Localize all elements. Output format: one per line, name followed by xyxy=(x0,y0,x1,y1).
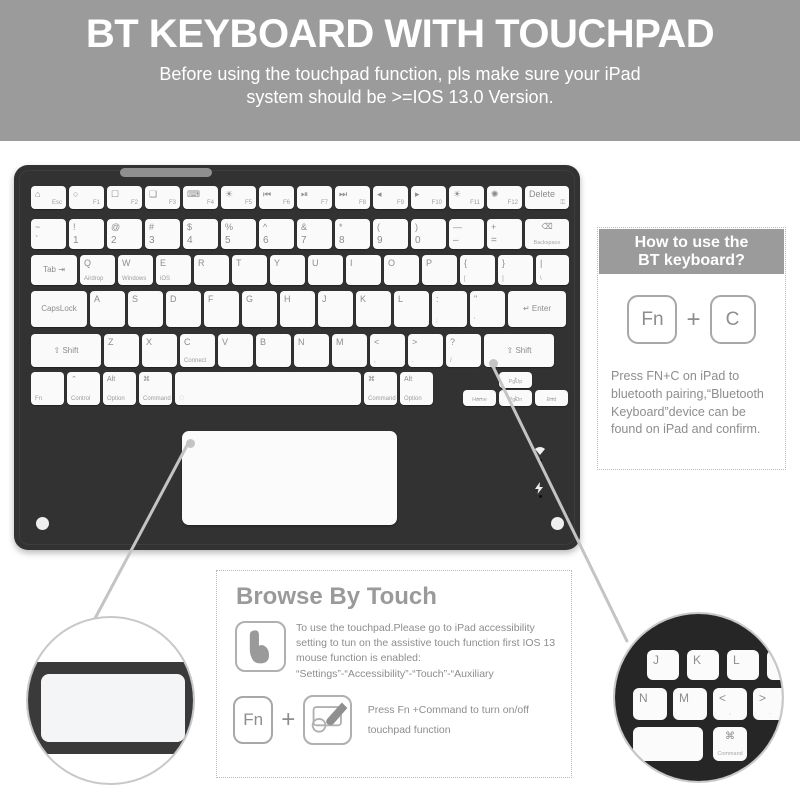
key-glyph: ⌫ xyxy=(525,223,569,231)
key-F[interactable]: F xyxy=(204,291,239,327)
key-X[interactable]: X xyxy=(142,334,177,367)
key-label: H xyxy=(284,295,291,304)
magnified-key-m[interactable]: M xyxy=(673,688,707,720)
key-label: G xyxy=(246,295,253,304)
key-glyph: ⌘ xyxy=(713,732,747,742)
fn-keycap: Fn xyxy=(627,295,677,344)
magnified-key-l[interactable]: L xyxy=(727,650,759,680)
key-label: " xyxy=(474,295,477,304)
key-7[interactable]: &7 xyxy=(297,219,332,249)
key-P[interactable]: P xyxy=(422,255,457,285)
key-base-label: 1 xyxy=(73,236,79,246)
key-base-label: 4 xyxy=(187,236,193,246)
key-label: Option xyxy=(404,396,422,402)
key-label: V xyxy=(222,338,228,347)
key-glyph: ⌨ xyxy=(187,190,200,199)
key-base-label: 0 xyxy=(415,236,421,246)
key-0[interactable]: )0 xyxy=(411,219,446,249)
key-base-label: 2 xyxy=(111,236,117,246)
key-}[interactable]: }] xyxy=(498,255,533,285)
key-fn-label: F3 xyxy=(169,200,176,206)
key-4[interactable]: $4 xyxy=(183,219,218,249)
key-shift-label: & xyxy=(301,223,307,232)
finger-tap-icon xyxy=(235,621,286,672)
key-shift-label: % xyxy=(225,223,233,232)
key-E[interactable]: EiOS xyxy=(156,255,191,285)
key-3[interactable]: #3 xyxy=(145,219,180,249)
key-glyph: ⌘ xyxy=(368,376,375,383)
rubber-foot-right xyxy=(551,517,564,530)
leader-dot-keys xyxy=(489,359,498,368)
key-fn-label: F11 xyxy=(470,200,480,206)
key-Tab[interactable]: Tab ⇥ xyxy=(31,255,77,285)
key-F5[interactable]: ☀F5 xyxy=(221,186,256,209)
key-fn-label: F5 xyxy=(245,200,252,206)
key-label: C xyxy=(184,338,191,347)
key-label: ↵ Enter xyxy=(508,305,566,313)
key-fn-label: F8 xyxy=(359,200,366,206)
key-label: Option xyxy=(107,396,125,402)
key-F4[interactable]: ⌨F4 xyxy=(183,186,218,209)
key-glyph: ☀ xyxy=(225,190,233,199)
key-label: | xyxy=(540,259,542,268)
key-shift-label: * xyxy=(339,223,343,232)
key-5[interactable]: %5 xyxy=(221,219,256,249)
magnified-key-space[interactable] xyxy=(633,727,703,761)
key-fn-label: F9 xyxy=(397,200,404,206)
key-<[interactable]: <, xyxy=(370,334,405,367)
touchpad-hand-icon xyxy=(303,695,351,745)
key-S[interactable]: S xyxy=(128,291,163,327)
key-option[interactable]: AltOption xyxy=(400,372,433,405)
key-label: P xyxy=(426,259,432,268)
key-shift-label: + xyxy=(491,223,496,232)
key-Q[interactable]: QAirdrop xyxy=(80,255,115,285)
key-home[interactable]: ←Home xyxy=(463,390,496,406)
key-control[interactable]: ⌃Control xyxy=(67,372,100,405)
key-F6[interactable]: ⏮F6 xyxy=(259,186,294,209)
key-sub-label: , xyxy=(374,358,376,364)
battery-indicator-icon xyxy=(534,481,543,492)
touchpad[interactable] xyxy=(182,431,397,525)
callout-bt-title-line-1: How to use the xyxy=(635,234,749,252)
key-base-label: 8 xyxy=(339,236,345,246)
key-2[interactable]: @2 xyxy=(107,219,142,249)
number-key-row: ~`!1@2#3$4%5^6&7*8(9)0—–+=Backspace⌫ xyxy=(31,219,569,249)
key-sub-label: \ xyxy=(540,276,542,282)
key-label: J xyxy=(322,295,327,304)
key-Shift[interactable]: ⇧ Shift xyxy=(31,334,101,367)
key-sub-label: ' xyxy=(474,318,475,324)
key-F11[interactable]: ☀F11 xyxy=(449,186,484,209)
key-base-label: 6 xyxy=(263,236,269,246)
key-label: K xyxy=(693,654,701,666)
key-space[interactable]: ◌ xyxy=(175,372,361,405)
key-F9[interactable]: ◂F9 xyxy=(373,186,408,209)
infographic-canvas: BT KEYBOARD WITH TOUCHPAD Before using t… xyxy=(0,0,800,800)
key-glyph: Alt xyxy=(404,376,412,383)
key-L[interactable]: L xyxy=(394,291,429,327)
key-base-label: 7 xyxy=(301,236,307,246)
magnified-key-period[interactable]: >. xyxy=(753,688,784,720)
key-=[interactable]: += xyxy=(487,219,522,249)
key-command[interactable]: ⌘Command xyxy=(139,372,172,405)
callout-bt-title-line-2: BT keyboard? xyxy=(635,252,749,270)
subtitle-line-2: system should be >=IOS 13.0 Version. xyxy=(0,86,800,109)
key-glyph: ▸ xyxy=(415,190,420,199)
key-fn-label: F2 xyxy=(131,200,138,206)
key-label: Tab ⇥ xyxy=(31,266,77,274)
key-label: PgDn xyxy=(499,398,532,404)
key-label: ? xyxy=(450,338,455,347)
key-label: ⇧ Shift xyxy=(484,347,554,355)
key-shift-label: ( xyxy=(377,223,380,232)
key-base-label: 5 xyxy=(225,236,231,246)
key-glyph: ◂ xyxy=(377,190,382,199)
key-N[interactable]: N xyxy=(294,334,329,367)
key-label: U xyxy=(312,259,319,268)
key-label: I xyxy=(350,259,353,268)
key-label: S xyxy=(132,295,138,304)
key-K[interactable]: K xyxy=(356,291,391,327)
key-fn[interactable]: Fn xyxy=(31,372,64,405)
key-glyph: ❑ xyxy=(149,190,157,199)
key-glyph: Delete xyxy=(529,190,555,199)
key-fn-label: ⚿ xyxy=(560,200,565,206)
magnified-touchpad xyxy=(41,674,185,742)
key-⚿[interactable]: Delete⚿ xyxy=(525,186,569,209)
key-label: E xyxy=(160,259,166,268)
key-label: Control xyxy=(71,396,90,402)
callout-touch-shortcut-block: Fn + Press Fn +Command to turn on/off to… xyxy=(233,695,571,745)
key-glyph: ⏯ xyxy=(301,190,308,199)
key-label: Command xyxy=(368,396,396,402)
key-glyph: Alt xyxy=(107,376,115,383)
key-sub-label: / xyxy=(450,358,452,364)
key-B[interactable]: B xyxy=(256,334,291,367)
key-shift-label: ~ xyxy=(35,223,40,232)
key-–[interactable]: —– xyxy=(449,219,484,249)
key-Enter[interactable]: ↵ Enter xyxy=(508,291,566,327)
modifier-key-row: Fn⌃ControlAltOption⌘Command◌⌘CommandAltO… xyxy=(31,372,433,405)
key-H[interactable]: H xyxy=(280,291,315,327)
magnified-key-k[interactable]: K xyxy=(687,650,719,680)
key-label: J xyxy=(653,654,659,666)
function-key-row: ⌂Esc○F1☐F2❑F3⌨F4☀F5⏮F6⏯F7⏭F8◂F9▸F10☀F11✺… xyxy=(31,186,569,209)
page-title: BT KEYBOARD WITH TOUCHPAD xyxy=(0,0,800,55)
key-G[interactable]: G xyxy=(242,291,277,327)
key->[interactable]: >. xyxy=(408,334,443,367)
key-D[interactable]: D xyxy=(166,291,201,327)
key-label: M xyxy=(679,692,689,704)
key-sub-label: . xyxy=(412,358,414,364)
key-label: < xyxy=(719,692,726,704)
key-Z[interactable]: Z xyxy=(104,334,139,367)
key-label: X xyxy=(146,338,152,347)
key-fn-label: Esc xyxy=(52,200,62,206)
key-label: Z xyxy=(108,338,114,347)
key-A[interactable]: A xyxy=(90,291,125,327)
home-key-row: CapsLockASDFGHJKL:;"'↵ Enter xyxy=(31,291,566,327)
key-O[interactable]: O xyxy=(384,255,419,285)
key-F3[interactable]: ❑F3 xyxy=(145,186,180,209)
callout-bt-body: Press FN+C on iPad to bluetooth pairing,… xyxy=(611,368,775,439)
key-glyph: ⌘ xyxy=(143,376,150,383)
key-label: D xyxy=(170,295,177,304)
key-shift-label: # xyxy=(149,223,154,232)
key-1[interactable]: !1 xyxy=(69,219,104,249)
key-label: B xyxy=(260,338,266,347)
subtitle-line-1: Before using the touchpad function, pls … xyxy=(0,63,800,86)
key-base-label: 9 xyxy=(377,236,383,246)
key-label: Home xyxy=(463,398,496,404)
plus-symbol: + xyxy=(686,308,700,332)
key-fn-label: F4 xyxy=(207,200,214,206)
callout-bt-shortcut: Fn + C xyxy=(598,295,785,344)
key-sub-label: Airdrop xyxy=(84,276,103,282)
key-label: Command xyxy=(143,396,171,402)
key-glyph: ☐ xyxy=(111,190,119,199)
key-F2[interactable]: ☐F2 xyxy=(107,186,142,209)
key-label: CapsLock xyxy=(31,305,87,313)
key-glyph: ⏮ xyxy=(263,190,271,199)
key-label: K xyxy=(360,295,366,304)
callout-how-to-use-bt: How to use the BT keyboard? Fn + C Press… xyxy=(597,227,786,470)
key-label: } xyxy=(502,259,505,268)
key-U[interactable]: U xyxy=(308,255,343,285)
leader-dot-touchpad xyxy=(186,439,195,448)
key-CapsLock[interactable]: CapsLock xyxy=(31,291,87,327)
key-label: Q xyxy=(84,259,91,268)
key-W[interactable]: WWindows xyxy=(118,255,153,285)
callout-touch-shortcut-text: Press Fn +Command to turn on/off touchpa… xyxy=(368,700,571,741)
key-shift-label: ) xyxy=(415,223,418,232)
key-fn-label: F10 xyxy=(432,200,442,206)
battery-indicator-dot xyxy=(539,495,542,498)
key-sub-label: ; xyxy=(436,318,438,324)
key-label: Y xyxy=(274,259,280,268)
magnifier-touchpad xyxy=(26,616,195,785)
key-C[interactable]: CConnect xyxy=(180,334,215,367)
key-sub-label: Connect xyxy=(184,358,206,364)
callout-bt-header: How to use the BT keyboard? xyxy=(599,229,784,274)
key-option[interactable]: AltOption xyxy=(103,372,136,405)
qwerty-key-row: Tab ⇥QAirdropWWindowsEiOSRTYUIOP{[}]|\ xyxy=(31,255,569,285)
key-fn-label: F12 xyxy=(508,200,518,206)
key-shift-label: ^ xyxy=(263,223,267,232)
magnifier-keys: JKLNM<,>.⌘Command xyxy=(613,612,784,783)
magnified-key-command[interactable]: ⌘Command xyxy=(713,727,747,761)
key-sub-label: iOS xyxy=(160,276,170,282)
key-:[interactable]: :; xyxy=(432,291,467,327)
key-{[interactable]: {[ xyxy=(460,255,495,285)
key-sub-label: Windows xyxy=(122,276,146,282)
magnified-key-comma[interactable]: <, xyxy=(713,688,747,720)
key-label: R xyxy=(198,259,205,268)
key-V[interactable]: V xyxy=(218,334,253,367)
key-sub-label: [ xyxy=(464,276,466,282)
callout-touch-instruction-text: To use the touchpad.Please go to iPad ac… xyxy=(296,621,561,682)
header-banner: BT KEYBOARD WITH TOUCHPAD Before using t… xyxy=(0,0,800,141)
key-label: < xyxy=(374,338,379,347)
key-label: N xyxy=(298,338,305,347)
magnified-key-extra1[interactable] xyxy=(767,650,784,680)
key-command[interactable]: ⌘Command xyxy=(364,372,397,405)
key-label: L xyxy=(733,654,740,666)
key-J[interactable]: J xyxy=(318,291,353,327)
key-label: Fn xyxy=(35,396,42,402)
plus-symbol-touch: + xyxy=(281,708,295,732)
callout-touch-title: Browse By Touch xyxy=(236,585,437,609)
key-label: T xyxy=(236,259,242,268)
key-Y[interactable]: Y xyxy=(270,255,305,285)
key-shift-label: @ xyxy=(111,223,120,232)
key-glyph: ⌂ xyxy=(35,190,40,199)
key-sub-label: , xyxy=(713,711,747,717)
key-label: F xyxy=(208,295,214,304)
key-glyph: ✺ xyxy=(491,190,499,199)
key-9[interactable]: (9 xyxy=(373,219,408,249)
callout-touch-instruction-block: To use the touchpad.Please go to iPad ac… xyxy=(235,621,561,682)
key-"[interactable]: "' xyxy=(470,291,505,327)
c-keycap: C xyxy=(710,295,756,344)
key-end[interactable]: →End xyxy=(535,390,568,406)
key-glyph: ◌ xyxy=(179,393,184,402)
magnified-key-j[interactable]: J xyxy=(647,650,679,680)
shift-key-row: ⇧ ShiftZXCConnectVBNM<,>.?/⇧ Shift xyxy=(31,334,554,367)
key-base-label: ` xyxy=(35,236,38,246)
fn-keycap-touch: Fn xyxy=(233,696,273,744)
key-label: M xyxy=(336,338,344,347)
key-⌫[interactable]: Backspace⌫ xyxy=(525,219,569,249)
key-glyph: ⌃ xyxy=(71,376,77,383)
key-base-label: – xyxy=(453,236,459,246)
key-base-label: 3 xyxy=(149,236,155,246)
ipad-stand-groove xyxy=(120,168,212,177)
key-I[interactable]: I xyxy=(346,255,381,285)
key-label: W xyxy=(122,259,131,268)
key-Esc[interactable]: ⌂Esc xyxy=(31,186,66,209)
key-sub-label: ] xyxy=(502,276,504,282)
key-`[interactable]: ~` xyxy=(31,219,66,249)
key-label: ⇧ Shift xyxy=(31,347,101,355)
key-label: PgUp xyxy=(499,380,532,386)
key-label: > xyxy=(412,338,417,347)
key-R[interactable]: R xyxy=(194,255,229,285)
key-glyph: ⏭ xyxy=(339,190,347,199)
key-8[interactable]: *8 xyxy=(335,219,370,249)
key-F10[interactable]: ▸F10 xyxy=(411,186,446,209)
key-fn-label: F6 xyxy=(283,200,290,206)
key-label: O xyxy=(388,259,395,268)
key-glyph: ☀ xyxy=(453,190,461,199)
key-label: > xyxy=(759,692,766,704)
magnified-key-n[interactable]: N xyxy=(633,688,667,720)
key-F7[interactable]: ⏯F7 xyxy=(297,186,332,209)
key-label: : xyxy=(436,295,439,304)
key-label: Command xyxy=(713,752,747,758)
key-shift-label: $ xyxy=(187,223,192,232)
key-M[interactable]: M xyxy=(332,334,367,367)
key-F1[interactable]: ○F1 xyxy=(69,186,104,209)
key-|[interactable]: |\ xyxy=(536,255,569,285)
key-fn-label: F1 xyxy=(93,200,100,206)
key-label: L xyxy=(398,295,403,304)
key-label: A xyxy=(94,295,100,304)
key-base-label: = xyxy=(491,236,497,246)
page-subtitle: Before using the touchpad function, pls … xyxy=(0,55,800,109)
key-6[interactable]: ^6 xyxy=(259,219,294,249)
key-sub-label: . xyxy=(753,711,784,717)
key-shift-label: ! xyxy=(73,223,76,232)
key-label: End xyxy=(535,398,568,404)
key-label: Backspace xyxy=(525,241,569,247)
key-?[interactable]: ?/ xyxy=(446,334,481,367)
key-glyph: ○ xyxy=(73,190,78,199)
key-fn-label: F7 xyxy=(321,200,328,206)
key-label: { xyxy=(464,259,467,268)
key-T[interactable]: T xyxy=(232,255,267,285)
key-shift-label: — xyxy=(453,223,462,232)
key-label: N xyxy=(639,692,648,704)
key-F8[interactable]: ⏭F8 xyxy=(335,186,370,209)
key-F12[interactable]: ✺F12 xyxy=(487,186,522,209)
rubber-foot-left xyxy=(36,517,49,530)
callout-browse-by-touch: Browse By Touch To use the touchpad.Plea… xyxy=(216,570,572,778)
